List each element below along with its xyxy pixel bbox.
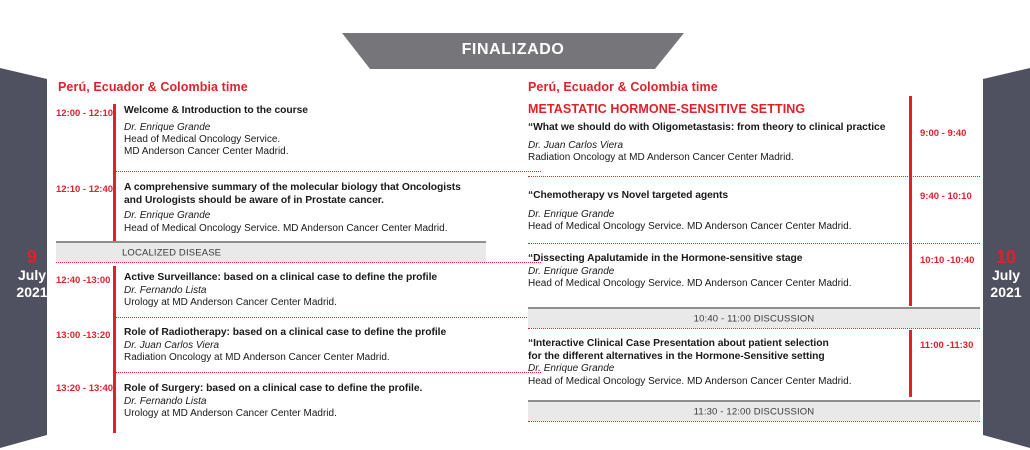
- right-rail-top: [909, 96, 912, 306]
- discussion-band-label: 11:30 - 12:00 DISCUSSION: [528, 406, 980, 417]
- session-time: 9:40 - 10:10: [920, 191, 980, 202]
- session-time: 11:00 -11:30: [920, 340, 980, 351]
- agenda-page: FINALIZADO 9 July 2021 10 July 2021 Perú…: [0, 0, 1030, 450]
- session-title: and Urologists should be aware of in Pro…: [124, 195, 499, 208]
- session-separator: [116, 317, 541, 318]
- session-speaker: Dr. Enrique Grande: [528, 363, 906, 375]
- session-separator: [528, 243, 980, 244]
- right-section-title: METASTATIC HORMONE-SENSITIVE SETTING: [528, 102, 805, 116]
- session-speaker: Dr. Juan Carlos Viera: [528, 140, 906, 152]
- session-affiliation: Radiation Oncology at MD Anderson Cancer…: [124, 352, 499, 364]
- discussion-band-separator: [528, 421, 980, 422]
- session-title: Role of Radiotherapy: based on a clinica…: [124, 327, 499, 340]
- session-time: 12:10 - 12:40: [56, 184, 106, 195]
- session-affiliation: Urology at MD Anderson Cancer Center Mad…: [124, 297, 499, 309]
- session-affiliation: MD Anderson Cancer Center Madrid.: [124, 146, 484, 158]
- discussion-band-separator: [528, 328, 980, 329]
- session-speaker: Dr. Juan Carlos Viera: [124, 340, 499, 352]
- session-title: Role of Surgery: based on a clinical cas…: [124, 383, 499, 396]
- session-speaker: Dr. Fernando Lista: [124, 396, 499, 408]
- session-title: Welcome & Introduction to the course: [124, 105, 484, 118]
- session-time: 9:00 - 9:40: [920, 128, 980, 139]
- right-timezone-title: Perú, Ecuador & Colombia time: [528, 80, 718, 94]
- section-band-localized-disease: LOCALIZED DISEASE: [56, 241, 486, 262]
- session-separator: [528, 176, 980, 177]
- session-title: Active Surveillance: based on a clinical…: [124, 272, 499, 285]
- day-tab-right-month: July: [974, 267, 1030, 284]
- session-time: 12:40 -13:00: [56, 275, 106, 286]
- session-separator: [116, 171, 541, 172]
- left-rail-top: [113, 104, 116, 244]
- day-tab-left: 9 July 2021: [0, 63, 64, 448]
- discussion-band-2: 11:30 - 12:00 DISCUSSION: [528, 400, 980, 421]
- session-affiliation: Head of Medical Oncology Service.: [124, 134, 484, 146]
- section-band-label: LOCALIZED DISEASE: [122, 247, 221, 258]
- session-speaker: Dr. Fernando Lista: [124, 285, 499, 297]
- status-badge-finalizado: FINALIZADO: [342, 33, 684, 69]
- session-affiliation: Urology at MD Anderson Cancer Center Mad…: [124, 408, 499, 420]
- session-speaker: Dr. Enrique Grande: [124, 122, 484, 134]
- day-tab-left-year: 2021: [0, 284, 64, 301]
- discussion-band-1: 10:40 - 11:00 DISCUSSION: [528, 307, 980, 328]
- session-speaker: Dr. Enrique Grande: [528, 266, 906, 278]
- day-tab-right-year: 2021: [974, 284, 1030, 301]
- session-affiliation: Head of Medical Oncology Service. MD And…: [528, 221, 906, 233]
- left-timezone-title: Perú, Ecuador & Colombia time: [58, 80, 248, 94]
- discussion-band-label: 10:40 - 11:00 DISCUSSION: [528, 313, 980, 324]
- session-title: A comprehensive summary of the molecular…: [124, 182, 499, 195]
- session-speaker: Dr. Enrique Grande: [528, 209, 906, 221]
- section-band-separator: [56, 262, 541, 263]
- session-time: 13:00 -13:20: [56, 330, 106, 341]
- session-affiliation: Radiation Oncology at MD Anderson Cancer…: [528, 152, 906, 164]
- session-title: for the different alternatives in the Ho…: [528, 351, 906, 364]
- session-title: “What we should do with Oligometastasis:…: [528, 122, 906, 135]
- session-title: “Chemotherapy vs Novel targeted agents: [528, 190, 906, 203]
- session-time: 13:20 - 13:40: [56, 383, 106, 394]
- right-rail-bottom: [909, 330, 912, 397]
- day-tab-left-number: 9: [0, 248, 64, 267]
- day-tab-left-month: July: [0, 267, 64, 284]
- session-time: 10:10 -10:40: [920, 255, 980, 266]
- session-time: 12:00 - 12:10: [56, 108, 106, 119]
- left-rail-bottom: [113, 266, 116, 433]
- day-tab-right-number: 10: [974, 248, 1030, 267]
- session-affiliation: Head of Medical Oncology Service. MD And…: [528, 278, 906, 290]
- session-title: “Dissecting Apalutamide in the Hormone-s…: [528, 253, 906, 266]
- session-separator: [116, 372, 541, 373]
- status-badge-label: FINALIZADO: [462, 41, 565, 59]
- session-affiliation: Head of Medical Oncology Service. MD And…: [528, 376, 906, 388]
- session-title: “Interactive Clinical Case Presentation …: [528, 338, 906, 351]
- session-affiliation: Head of Medical Oncology Service. MD And…: [124, 223, 499, 235]
- session-speaker: Dr. Enrique Grande: [124, 210, 499, 222]
